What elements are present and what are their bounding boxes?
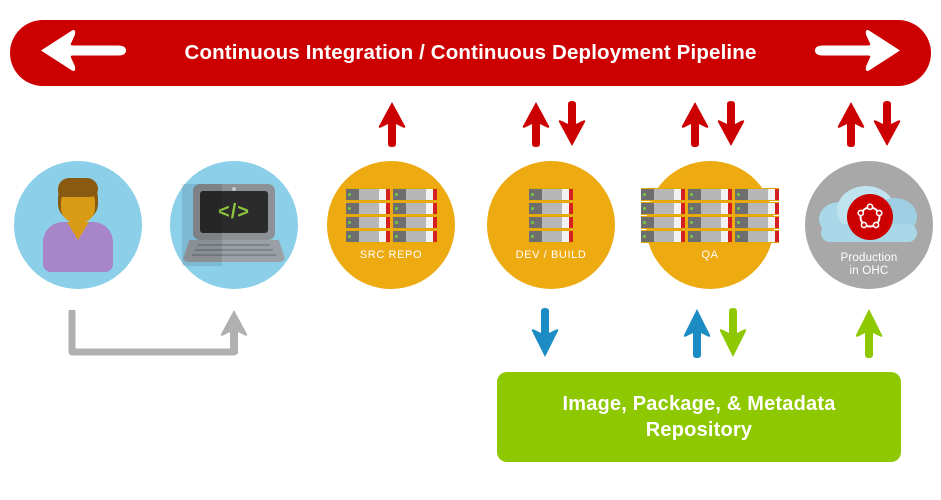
arrow-left-icon (36, 27, 128, 80)
node-label-dev-build: DEV / BUILD (516, 249, 587, 262)
node-label-production-line2: in OHC (850, 265, 889, 277)
qa-pipeline-arrows (680, 100, 746, 148)
arrow-up-icon (836, 100, 866, 148)
developer-to-workstation-connector (68, 310, 258, 367)
repository-label: Image, Package, & Metadata Repository (562, 391, 835, 443)
arrow-up-icon (682, 307, 712, 359)
arrow-up-icon (854, 307, 884, 359)
arrow-down-icon (557, 100, 587, 148)
repository-label-line1: Image, Package, & Metadata (562, 393, 835, 415)
server-rack-icon (529, 188, 573, 243)
repository-label-line2: Repository (646, 419, 752, 441)
node-label-production: Production in OHC (841, 252, 898, 278)
node-src-repo[interactable]: SRC REPO (327, 161, 455, 289)
arrow-up-icon (521, 100, 551, 148)
arrow-down-icon (718, 307, 748, 359)
server-rack-icon (641, 188, 779, 243)
arrow-down-icon (872, 100, 902, 148)
dev-build-repo-arrows (530, 307, 560, 359)
pipeline-banner: Continuous Integration / Continuous Depl… (10, 20, 931, 86)
arrow-up-icon (377, 100, 407, 148)
node-production[interactable]: Production in OHC (805, 161, 933, 289)
node-dev-build[interactable]: DEV / BUILD (487, 161, 615, 289)
node-label-qa: QA (701, 249, 718, 262)
production-pipeline-arrows (836, 100, 902, 148)
qa-repo-arrows (682, 307, 748, 359)
arrow-right-icon (813, 27, 905, 80)
node-label-production-line1: Production (841, 252, 898, 264)
src-repo-pipeline-arrows (377, 100, 407, 148)
production-repo-arrows (854, 307, 884, 359)
dev-build-pipeline-arrows (521, 100, 587, 148)
server-rack-icon (346, 188, 437, 243)
arrow-down-icon (530, 307, 560, 359)
page-title: Continuous Integration / Continuous Depl… (185, 41, 757, 65)
arrow-down-icon (716, 100, 746, 148)
openshift-badge-icon (847, 194, 893, 240)
node-workstation[interactable]: </> (170, 161, 298, 289)
repository-box[interactable]: Image, Package, & Metadata Repository (497, 372, 901, 462)
cloud-openshift-icon (817, 172, 921, 246)
node-qa[interactable]: QA (646, 161, 774, 289)
arrow-up-icon (680, 100, 710, 148)
person-icon (35, 178, 121, 272)
node-developer[interactable] (14, 161, 142, 289)
node-label-src-repo: SRC REPO (360, 249, 422, 262)
cicd-diagram: Continuous Integration / Continuous Depl… (0, 0, 941, 500)
laptop-code-icon: </> (182, 184, 286, 266)
